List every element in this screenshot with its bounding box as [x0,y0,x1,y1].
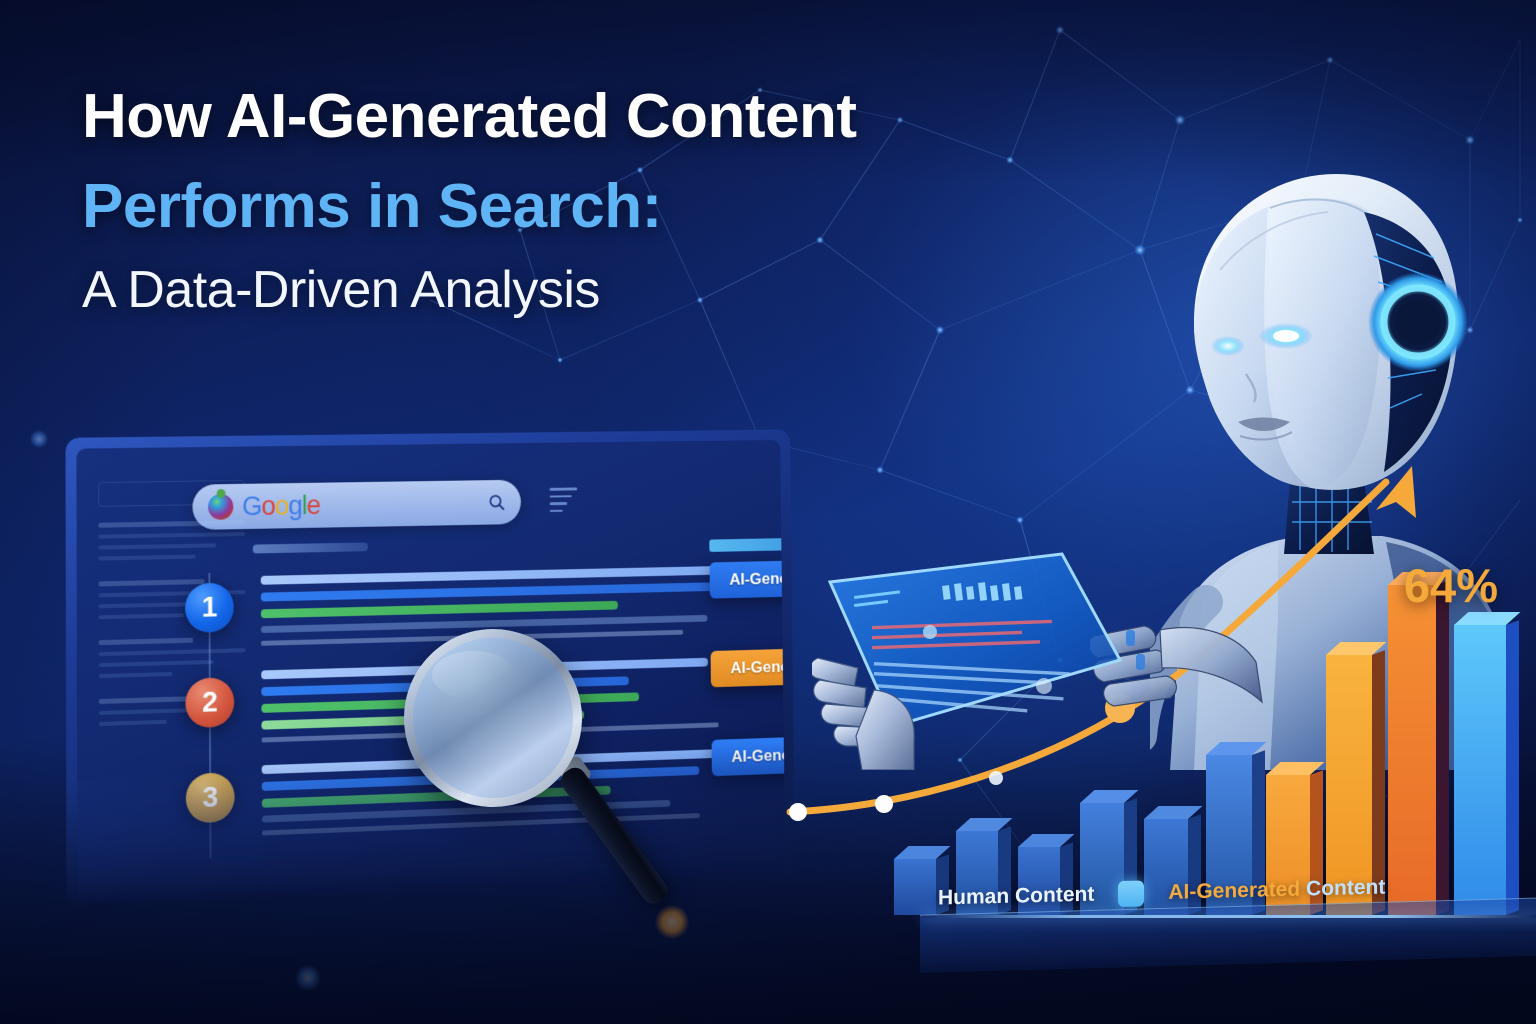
headline-line-1: How AI-Generated Content [82,86,1072,148]
google-logo-dot-icon [208,494,233,520]
brand-letter: o [275,491,289,521]
search-icon[interactable] [487,492,506,512]
chart-baseline [922,915,1536,918]
query-pill [253,542,368,553]
page-title: How AI-Generated Content Performs in Sea… [82,86,1072,316]
result-tag-strip [709,538,785,552]
ai-generated-badge-2[interactable]: AI-Generated [711,647,786,687]
ai-badge-column: AI-Generated AI-Generated AI-Generated [710,560,786,829]
brand-letter: g [288,490,302,520]
rank-badge-1: 1 [185,582,234,633]
google-search-bar[interactable]: Google [192,480,521,530]
bokeh-glow [30,430,48,448]
brand-letter: o [261,491,275,521]
highlight-percentage: 64% [1404,558,1498,613]
magnifier-lens [404,629,582,807]
legend-item-human-content: Human Content [938,883,1094,911]
bar-human-1 [894,859,936,915]
bokeh-glow [295,965,321,991]
legend-ai-label-tail: Content [1300,876,1385,901]
rank-badge-2: 2 [185,677,234,728]
bokeh-glow-warm [655,905,689,939]
google-wordmark: Google [242,490,320,522]
legend-swatch-ai [1118,880,1144,907]
headline-line-3: A Data-Driven Analysis [82,264,1072,316]
brand-letter: G [242,491,261,521]
holographic-tablet [812,540,1142,770]
headline-line-2: Performs in Search: [82,176,1072,238]
legend-item-ai-content: AI-Generated Content [1168,876,1385,905]
rank-badge-3: 3 [186,772,235,823]
poster-canvas: How AI-Generated Content Performs in Sea… [0,0,1536,1024]
brand-letter: e [307,490,321,520]
hamburger-menu-icon[interactable] [550,487,578,516]
ai-generated-badge-1[interactable]: AI-Generated [710,560,786,599]
legend-ai-label: AI-Generated [1168,878,1300,904]
ai-generated-badge-3[interactable]: AI-Generated [712,735,786,776]
